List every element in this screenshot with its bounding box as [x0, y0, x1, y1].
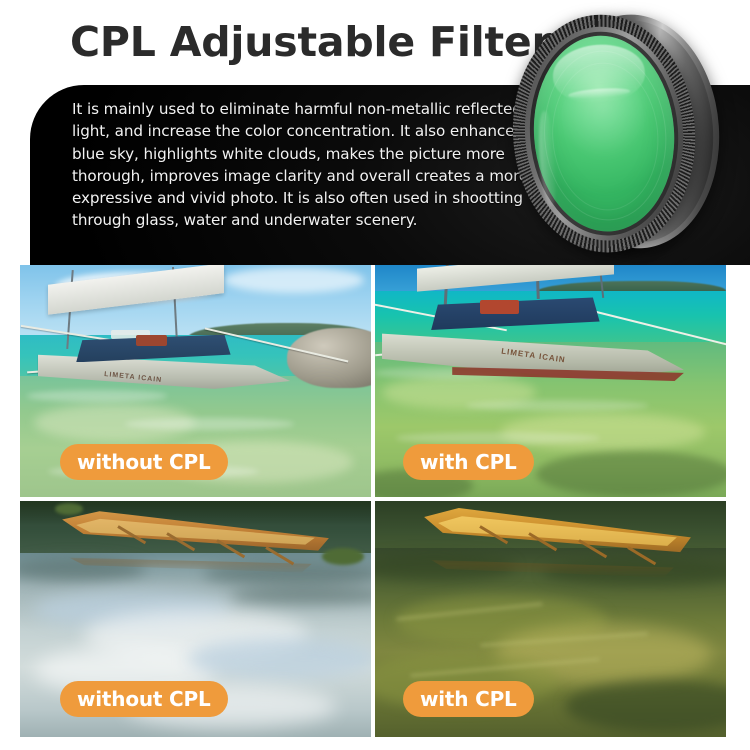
sky-reflection — [188, 638, 371, 680]
photo-canoe-without-cpl[interactable]: without CPL — [20, 501, 371, 737]
foliage — [322, 548, 364, 565]
cloud — [224, 267, 364, 293]
deck-gear — [480, 300, 519, 314]
photo-canoe-with-cpl[interactable]: with CPL — [375, 501, 726, 737]
label-without-cpl: without CPL — [60, 444, 228, 480]
photo-boat-with-cpl[interactable]: LIMETA ICAIN with CPL — [375, 265, 726, 497]
water-ripple — [125, 418, 293, 430]
water-ripple — [396, 432, 600, 444]
label-without-cpl: without CPL — [60, 681, 228, 717]
water-ripple — [27, 390, 167, 402]
seaweed-patch — [536, 451, 726, 497]
product-infographic: CPL Adjustable Filter It is mainly used … — [0, 0, 750, 750]
photo-boat-without-cpl[interactable]: LIMETA ICAIN without CPL — [20, 265, 371, 497]
label-with-cpl: with CPL — [403, 681, 534, 717]
comparison-photo-grid: LIMETA ICAIN without CPL — [20, 265, 726, 737]
description-text: It is mainly used to eliminate harmful n… — [72, 98, 542, 232]
deck-gear — [136, 335, 168, 347]
dark-reflection — [231, 586, 371, 605]
cpl-filter-product-image: CPL — [497, 3, 729, 262]
water-ripple — [466, 400, 649, 412]
label-with-cpl: with CPL — [403, 444, 534, 480]
page-title: CPL Adjustable Filter — [70, 18, 552, 66]
